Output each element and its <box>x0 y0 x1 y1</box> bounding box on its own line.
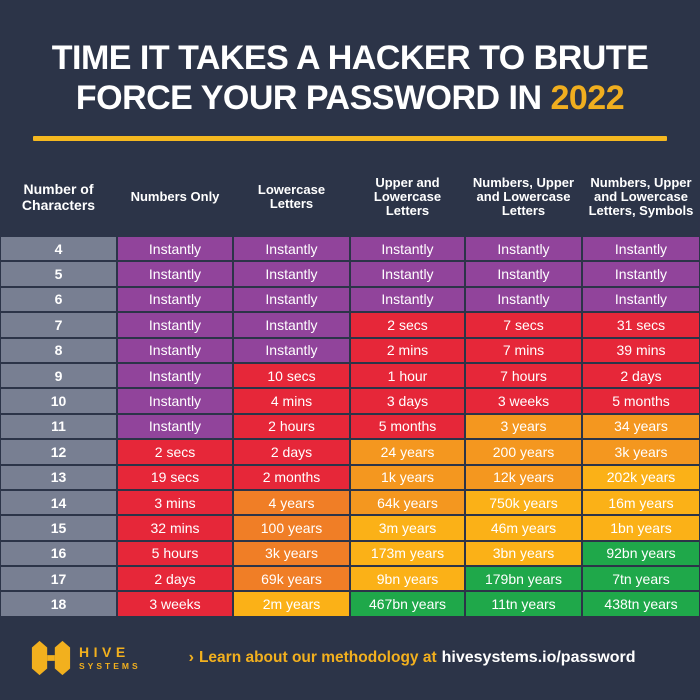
footer: HIVE SYSTEMS › Learn about our methodolo… <box>0 616 700 700</box>
crack-time-cell: 39 mins <box>582 338 700 363</box>
page-title: TIME IT TAKES A HACKER TO BRUTE FORCE YO… <box>0 38 700 118</box>
crack-time-cell: 31 secs <box>582 312 700 337</box>
crack-time-cell: Instantly <box>582 236 700 261</box>
crack-time-cell: 9bn years <box>350 566 465 591</box>
table-row: 1532 mins100 years3m years46m years1bn y… <box>0 515 700 540</box>
crack-time-cell: 5 hours <box>117 541 233 566</box>
character-count-cell: 10 <box>0 388 117 413</box>
column-header-lowercase-letters: Lowercase Letters <box>233 162 350 232</box>
crack-time-cell: 19 secs <box>117 465 233 490</box>
crack-time-cell: 179bn years <box>465 566 582 591</box>
crack-time-cell: 3m years <box>350 515 465 540</box>
character-count-cell: 6 <box>0 287 117 312</box>
crack-time-cell: 64k years <box>350 490 465 515</box>
crack-time-cell: 4 years <box>233 490 350 515</box>
table-header-row: Number of Characters Numbers Only Lowerc… <box>0 162 700 232</box>
footer-cta[interactable]: › Learn about our methodology at hivesys… <box>189 649 636 667</box>
table-row: 183 weeks2m years467bn years11tn years43… <box>0 591 700 616</box>
crack-time-cell: 7 mins <box>465 338 582 363</box>
table-row: 4InstantlyInstantlyInstantlyInstantlyIns… <box>0 236 700 261</box>
character-count-cell: 8 <box>0 338 117 363</box>
column-header-numbers-only: Numbers Only <box>117 162 233 232</box>
column-header-number-of-characters: Number of Characters <box>0 162 117 232</box>
crack-time-cell: 202k years <box>582 465 700 490</box>
crack-time-cell: 2 days <box>582 363 700 388</box>
footer-cta-label: Learn about our methodology at <box>199 649 437 667</box>
character-count-cell: 14 <box>0 490 117 515</box>
crack-time-cell: 32 mins <box>117 515 233 540</box>
crack-time-cell: 7tn years <box>582 566 700 591</box>
crack-time-cell: 12k years <box>465 465 582 490</box>
crack-time-cell: Instantly <box>233 287 350 312</box>
crack-time-cell: 5 months <box>350 414 465 439</box>
crack-time-cell: 2 mins <box>350 338 465 363</box>
crack-time-cell: Instantly <box>350 236 465 261</box>
table-row: 1319 secs2 months1k years12k years202k y… <box>0 465 700 490</box>
crack-time-cell: 11tn years <box>465 591 582 616</box>
crack-time-cell: 3 days <box>350 388 465 413</box>
crack-time-cell: 3 years <box>465 414 582 439</box>
crack-time-cell: 100 years <box>233 515 350 540</box>
crack-time-cell: Instantly <box>117 261 233 286</box>
table-row: 172 days69k years9bn years179bn years7tn… <box>0 566 700 591</box>
crack-time-cell: 2 days <box>117 566 233 591</box>
crack-time-cell: 46m years <box>465 515 582 540</box>
character-count-cell: 4 <box>0 236 117 261</box>
crack-time-cell: 1 hour <box>350 363 465 388</box>
crack-time-cell: Instantly <box>350 261 465 286</box>
crack-time-cell: Instantly <box>582 261 700 286</box>
crack-time-cell: Instantly <box>233 261 350 286</box>
crack-time-cell: 3bn years <box>465 541 582 566</box>
crack-time-cell: 750k years <box>465 490 582 515</box>
character-count-cell: 9 <box>0 363 117 388</box>
crack-time-cell: 3k years <box>582 439 700 464</box>
character-count-cell: 12 <box>0 439 117 464</box>
character-count-cell: 11 <box>0 414 117 439</box>
crack-time-cell: 438tn years <box>582 591 700 616</box>
crack-time-cell: Instantly <box>465 261 582 286</box>
crack-time-cell: 3k years <box>233 541 350 566</box>
crack-time-cell: Instantly <box>350 287 465 312</box>
crack-time-cell: 2 hours <box>233 414 350 439</box>
title-year: 2022 <box>550 79 624 117</box>
title-line-2: FORCE YOUR PASSWORD IN 2022 <box>0 78 700 118</box>
logo-hive-text: HIVE <box>79 645 141 659</box>
crack-time-cell: 1bn years <box>582 515 700 540</box>
column-header-numbers-upper-lowercase-letters-symbols: Numbers, Upper and Lowercase Letters, Sy… <box>582 162 700 232</box>
logo-systems-text: SYSTEMS <box>79 662 141 671</box>
table-body: 4InstantlyInstantlyInstantlyInstantlyIns… <box>0 236 700 617</box>
footer-cta-url[interactable]: hivesystems.io/password <box>442 649 636 667</box>
title-line-1: TIME IT TAKES A HACKER TO BRUTE <box>0 38 700 78</box>
chevron-right-icon: › <box>189 649 194 667</box>
crack-time-cell: Instantly <box>117 363 233 388</box>
column-header-numbers-upper-and-lowercase-letters: Numbers, Upper and Lowercase Letters <box>465 162 582 232</box>
table-row: 11Instantly2 hours5 months3 years34 year… <box>0 414 700 439</box>
character-count-cell: 13 <box>0 465 117 490</box>
character-count-cell: 18 <box>0 591 117 616</box>
crack-time-cell: 2 months <box>233 465 350 490</box>
table-row: 7InstantlyInstantly2 secs7 secs31 secs <box>0 312 700 337</box>
crack-time-cell: Instantly <box>117 414 233 439</box>
table-row: 6InstantlyInstantlyInstantlyInstantlyIns… <box>0 287 700 312</box>
table-row: 5InstantlyInstantlyInstantlyInstantlyIns… <box>0 261 700 286</box>
gold-divider-rule <box>33 136 667 141</box>
table-row: 122 secs2 days24 years200 years3k years <box>0 439 700 464</box>
crack-time-cell: Instantly <box>582 287 700 312</box>
table-row: 8InstantlyInstantly2 mins7 mins39 mins <box>0 338 700 363</box>
hive-hexagon-logo-icon <box>30 637 72 679</box>
crack-time-cell: 3 weeks <box>117 591 233 616</box>
crack-time-cell: 467bn years <box>350 591 465 616</box>
crack-time-cell: Instantly <box>233 312 350 337</box>
crack-time-cell: Instantly <box>117 236 233 261</box>
crack-time-cell: 173m years <box>350 541 465 566</box>
crack-time-cell: 24 years <box>350 439 465 464</box>
crack-time-cell: 34 years <box>582 414 700 439</box>
crack-time-cell: 69k years <box>233 566 350 591</box>
character-count-cell: 15 <box>0 515 117 540</box>
crack-time-cell: Instantly <box>117 287 233 312</box>
crack-time-cell: 3 weeks <box>465 388 582 413</box>
crack-time-cell: Instantly <box>117 338 233 363</box>
hive-systems-logo: HIVE SYSTEMS <box>30 637 141 679</box>
table-row: 10Instantly4 mins3 days3 weeks5 months <box>0 388 700 413</box>
table-row: 165 hours3k years173m years3bn years92bn… <box>0 541 700 566</box>
crack-time-cell: 2m years <box>233 591 350 616</box>
logo-wordmark: HIVE SYSTEMS <box>79 645 141 671</box>
table-row: 9Instantly10 secs1 hour7 hours2 days <box>0 363 700 388</box>
character-count-cell: 17 <box>0 566 117 591</box>
title-line-2-prefix: FORCE YOUR PASSWORD IN <box>76 79 551 117</box>
crack-time-cell: 2 secs <box>350 312 465 337</box>
crack-time-cell: 16m years <box>582 490 700 515</box>
column-header-upper-and-lowercase-letters: Upper and Lowercase Letters <box>350 162 465 232</box>
crack-time-cell: Instantly <box>465 287 582 312</box>
character-count-cell: 5 <box>0 261 117 286</box>
crack-time-cell: 3 mins <box>117 490 233 515</box>
table-row: 143 mins4 years64k years750k years16m ye… <box>0 490 700 515</box>
character-count-cell: 16 <box>0 541 117 566</box>
crack-time-cell: 2 days <box>233 439 350 464</box>
crack-time-cell: 92bn years <box>582 541 700 566</box>
crack-time-cell: Instantly <box>117 388 233 413</box>
crack-time-cell: 2 secs <box>117 439 233 464</box>
infographic-page: TIME IT TAKES A HACKER TO BRUTE FORCE YO… <box>0 0 700 700</box>
crack-time-cell: 4 mins <box>233 388 350 413</box>
crack-time-cell: 200 years <box>465 439 582 464</box>
crack-time-cell: Instantly <box>117 312 233 337</box>
crack-time-cell: 10 secs <box>233 363 350 388</box>
crack-time-cell: Instantly <box>233 236 350 261</box>
crack-time-cell: Instantly <box>233 338 350 363</box>
crack-time-cell: 1k years <box>350 465 465 490</box>
crack-time-cell: 7 secs <box>465 312 582 337</box>
crack-time-cell: 5 months <box>582 388 700 413</box>
character-count-cell: 7 <box>0 312 117 337</box>
crack-time-cell: Instantly <box>465 236 582 261</box>
crack-time-cell: 7 hours <box>465 363 582 388</box>
